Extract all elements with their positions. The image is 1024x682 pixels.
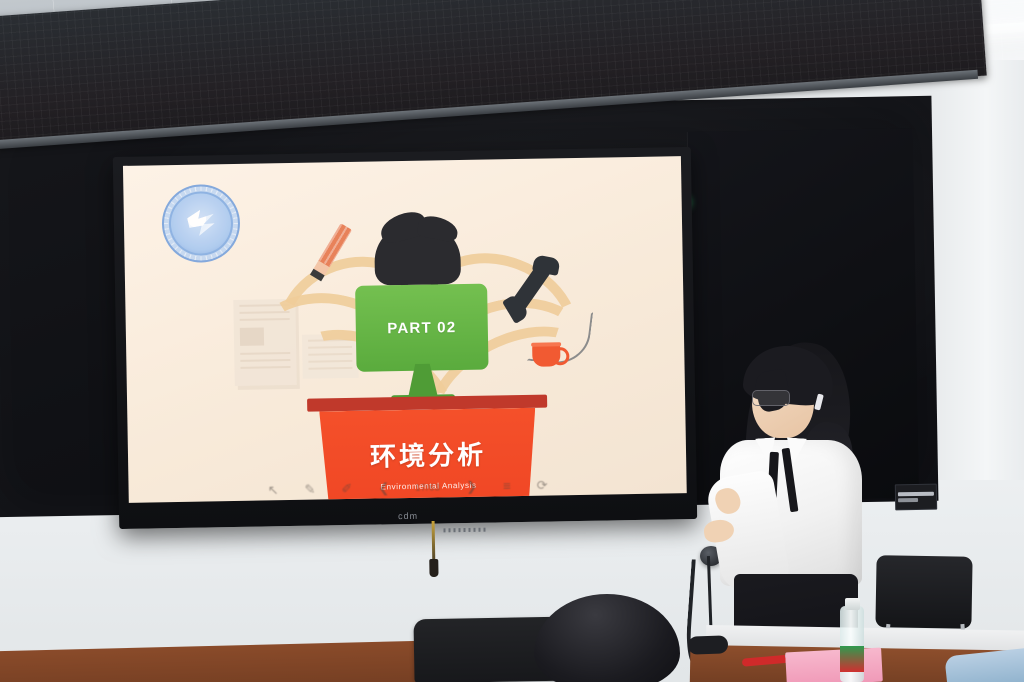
section-label: PART 02 xyxy=(387,319,456,337)
desk-object xyxy=(688,635,729,654)
background-chair[interactable] xyxy=(875,555,972,629)
slide-title-cn: 环境分析 xyxy=(370,435,487,474)
slide-monitor-graphic: PART 02 xyxy=(355,284,488,372)
previous-slide-icon[interactable]: ❮ xyxy=(378,481,389,494)
display-brand-label: cdm xyxy=(398,511,418,521)
bottle-label xyxy=(840,646,864,672)
page-indicator: 17/63 xyxy=(415,482,440,492)
coffee-cup-icon xyxy=(532,344,560,366)
display-vent xyxy=(443,528,487,533)
display-screen-area: PART 02 环境分析 Environmental Analysis ↖ ✎ … xyxy=(123,156,687,503)
university-seal-icon xyxy=(161,184,240,263)
highlighter-icon[interactable]: ✐ xyxy=(341,482,352,495)
blackboard-brand-label xyxy=(895,484,937,511)
bottle-cap xyxy=(845,598,860,610)
presentation-slide: PART 02 环境分析 Environmental Analysis ↖ ✎ … xyxy=(123,156,687,503)
menu-icon[interactable]: ≡ xyxy=(503,479,511,492)
smart-display[interactable]: PART 02 环境分析 Environmental Analysis ↖ ✎ … xyxy=(113,147,697,529)
more-icon[interactable]: ⟳ xyxy=(537,479,548,492)
pink-name-card[interactable] xyxy=(785,648,883,682)
pointer-icon[interactable]: ↖ xyxy=(267,483,278,496)
glasses-icon xyxy=(752,390,790,406)
classroom-scene: PART 02 环境分析 Environmental Analysis ↖ ✎ … xyxy=(0,0,1024,682)
next-slide-icon[interactable]: ❯ xyxy=(466,480,477,493)
pen-icon[interactable]: ✎ xyxy=(304,483,315,496)
character-hair xyxy=(374,222,461,285)
